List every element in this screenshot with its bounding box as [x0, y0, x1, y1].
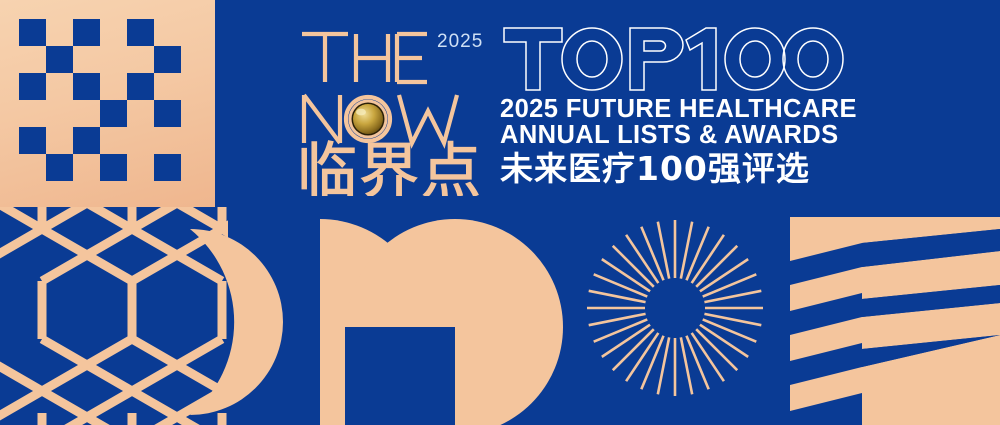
award-line-one: 2025 FUTURE HEALTHCARE: [500, 96, 845, 122]
checker-cell: [46, 154, 73, 181]
checker-cell: [127, 19, 154, 46]
checker-cell: [127, 73, 154, 100]
checker-cell: [127, 127, 154, 154]
sunburst-pattern: [585, 218, 765, 398]
award-line-two: ANNUAL LISTS & AWARDS: [500, 122, 845, 148]
checker-cell: [154, 73, 181, 100]
checker-cell: [154, 127, 181, 154]
logo-chinese-name-fill: 临界点: [297, 137, 483, 196]
checkerboard-pattern: [19, 19, 181, 181]
gold-orb: [349, 100, 388, 139]
checker-cell: [100, 127, 127, 154]
checker-cell: [73, 19, 100, 46]
checker-cell: [19, 127, 46, 154]
checker-cell: [127, 154, 154, 181]
checkerboard-panel: [0, 0, 215, 207]
checker-cell: [73, 46, 100, 73]
checker-cell: [100, 73, 127, 100]
checker-cell: [127, 46, 154, 73]
banner-root: 2025: [0, 0, 1000, 425]
checker-cell: [127, 100, 154, 127]
checker-cell: [100, 46, 127, 73]
checker-cell: [46, 100, 73, 127]
logo-year: 2025: [437, 31, 483, 52]
headline-block: 2025 FUTURE HEALTHCARE ANNUAL LISTS & AW…: [500, 22, 845, 192]
checker-cell: [100, 19, 127, 46]
checker-cell: [19, 46, 46, 73]
checker-cell: [154, 19, 181, 46]
checker-cell: [19, 100, 46, 127]
the-now-logo: 2025: [296, 16, 491, 196]
checker-cell: [19, 19, 46, 46]
checker-cell: [154, 46, 181, 73]
checker-cell: [154, 154, 181, 181]
checker-cell: [73, 73, 100, 100]
checker-cell: [73, 100, 100, 127]
checker-cell: [46, 19, 73, 46]
top100-outline-title: [500, 22, 845, 96]
checker-cell: [100, 154, 127, 181]
checker-cell: [100, 100, 127, 127]
checker-cell: [19, 154, 46, 181]
checker-cell: [73, 127, 100, 154]
checker-cell: [46, 46, 73, 73]
checker-cell: [73, 154, 100, 181]
decorative-bottom-band: [0, 207, 1000, 425]
checker-cell: [46, 127, 73, 154]
checker-cell: [46, 73, 73, 100]
checker-cell: [154, 100, 181, 127]
award-chinese-line: 未来医疗100强评选: [500, 151, 845, 188]
checker-cell: [19, 73, 46, 100]
